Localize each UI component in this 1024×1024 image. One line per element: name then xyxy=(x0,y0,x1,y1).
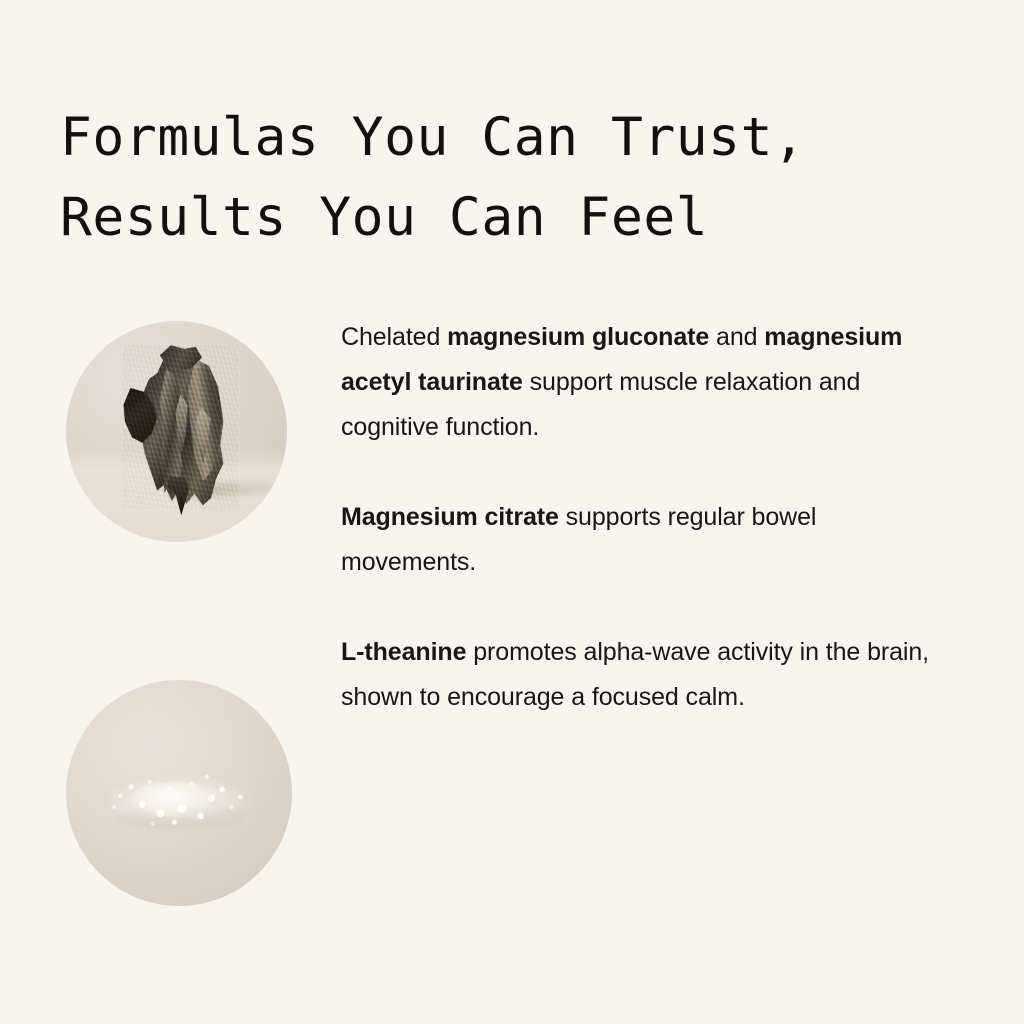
benefit-copy-block: Chelated magnesium gluconate and magnesi… xyxy=(341,315,941,720)
benefit-paragraph-l-theanine: L-theanine promotes alpha-wave activity … xyxy=(341,630,941,720)
mineral-rock-shape xyxy=(123,345,238,509)
benefit-paragraph-magnesium-chelates: Chelated magnesium gluconate and magnesi… xyxy=(341,315,941,450)
magnesium-mineral-photo xyxy=(66,321,287,542)
powder-granules xyxy=(102,768,256,831)
benefit-paragraph-magnesium-citrate: Magnesium citrate supports regular bowel… xyxy=(341,495,941,585)
marketing-slide: Formulas You Can Trust, Results You Can … xyxy=(0,0,1024,1024)
powder-pile xyxy=(102,768,256,831)
white-powder-photo xyxy=(66,680,292,906)
page-title: Formulas You Can Trust, Results You Can … xyxy=(60,98,980,258)
